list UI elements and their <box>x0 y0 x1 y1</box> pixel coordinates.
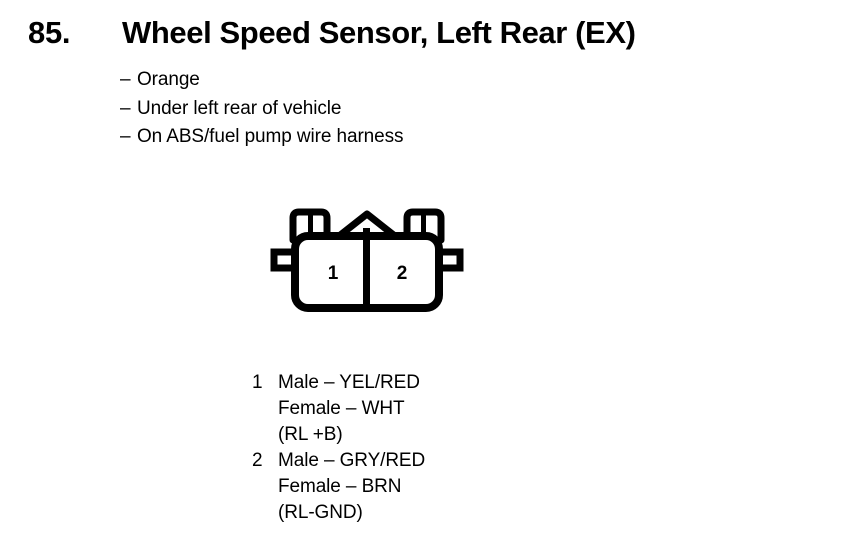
legend-row: 2 Male – GRY/RED <box>252 448 652 474</box>
detail-list: –Orange –Under left rear of vehicle –On … <box>120 66 760 152</box>
page-title: Wheel Speed Sensor, Left Rear (EX) <box>122 14 636 52</box>
connector-drawing: 1 2 <box>262 200 472 320</box>
legend-male-wire: Male – YEL/RED <box>278 370 420 396</box>
item-number: 85. <box>28 14 122 52</box>
cavity-label-2: 2 <box>397 263 408 284</box>
cavity-label-1: 1 <box>328 263 339 284</box>
detail-item-label: Orange <box>137 69 200 90</box>
legend-female-wire: Female – BRN <box>278 474 401 500</box>
connector-diagram: 1 2 <box>262 200 472 320</box>
detail-item-color: –Orange <box>120 66 760 95</box>
legend-row: 1 Male – YEL/RED <box>252 370 652 396</box>
detail-item-label: Under left rear of vehicle <box>137 98 341 119</box>
legend-row: 1 (RL +B) <box>252 422 652 448</box>
dash-icon: – <box>120 123 137 152</box>
legend-row: 2 (RL-GND) <box>252 500 652 526</box>
page-header: 85. Wheel Speed Sensor, Left Rear (EX) <box>28 14 828 58</box>
legend-row: 1 Female – WHT <box>252 396 652 422</box>
legend-male-wire: Male – GRY/RED <box>278 448 425 474</box>
legend-circuit-function: (RL +B) <box>278 422 343 448</box>
legend-circuit-function: (RL-GND) <box>278 500 363 526</box>
dash-icon: – <box>120 66 137 95</box>
legend-entry-pin-2: 2 Male – GRY/RED 2 Female – BRN 2 (RL-GN… <box>252 448 652 526</box>
legend-pin-number: 2 <box>252 448 278 474</box>
detail-item-label: On ABS/fuel pump wire harness <box>137 126 403 147</box>
legend-row: 2 Female – BRN <box>252 474 652 500</box>
pin-legend: 1 Male – YEL/RED 1 Female – WHT 1 (RL +B… <box>252 370 652 526</box>
detail-item-location: –Under left rear of vehicle <box>120 95 760 124</box>
legend-entry-pin-1: 1 Male – YEL/RED 1 Female – WHT 1 (RL +B… <box>252 370 652 448</box>
legend-pin-number: 1 <box>252 370 278 396</box>
detail-item-harness: –On ABS/fuel pump wire harness <box>120 123 760 152</box>
dash-icon: – <box>120 95 137 124</box>
legend-female-wire: Female – WHT <box>278 396 405 422</box>
cavity-divider <box>363 236 370 308</box>
